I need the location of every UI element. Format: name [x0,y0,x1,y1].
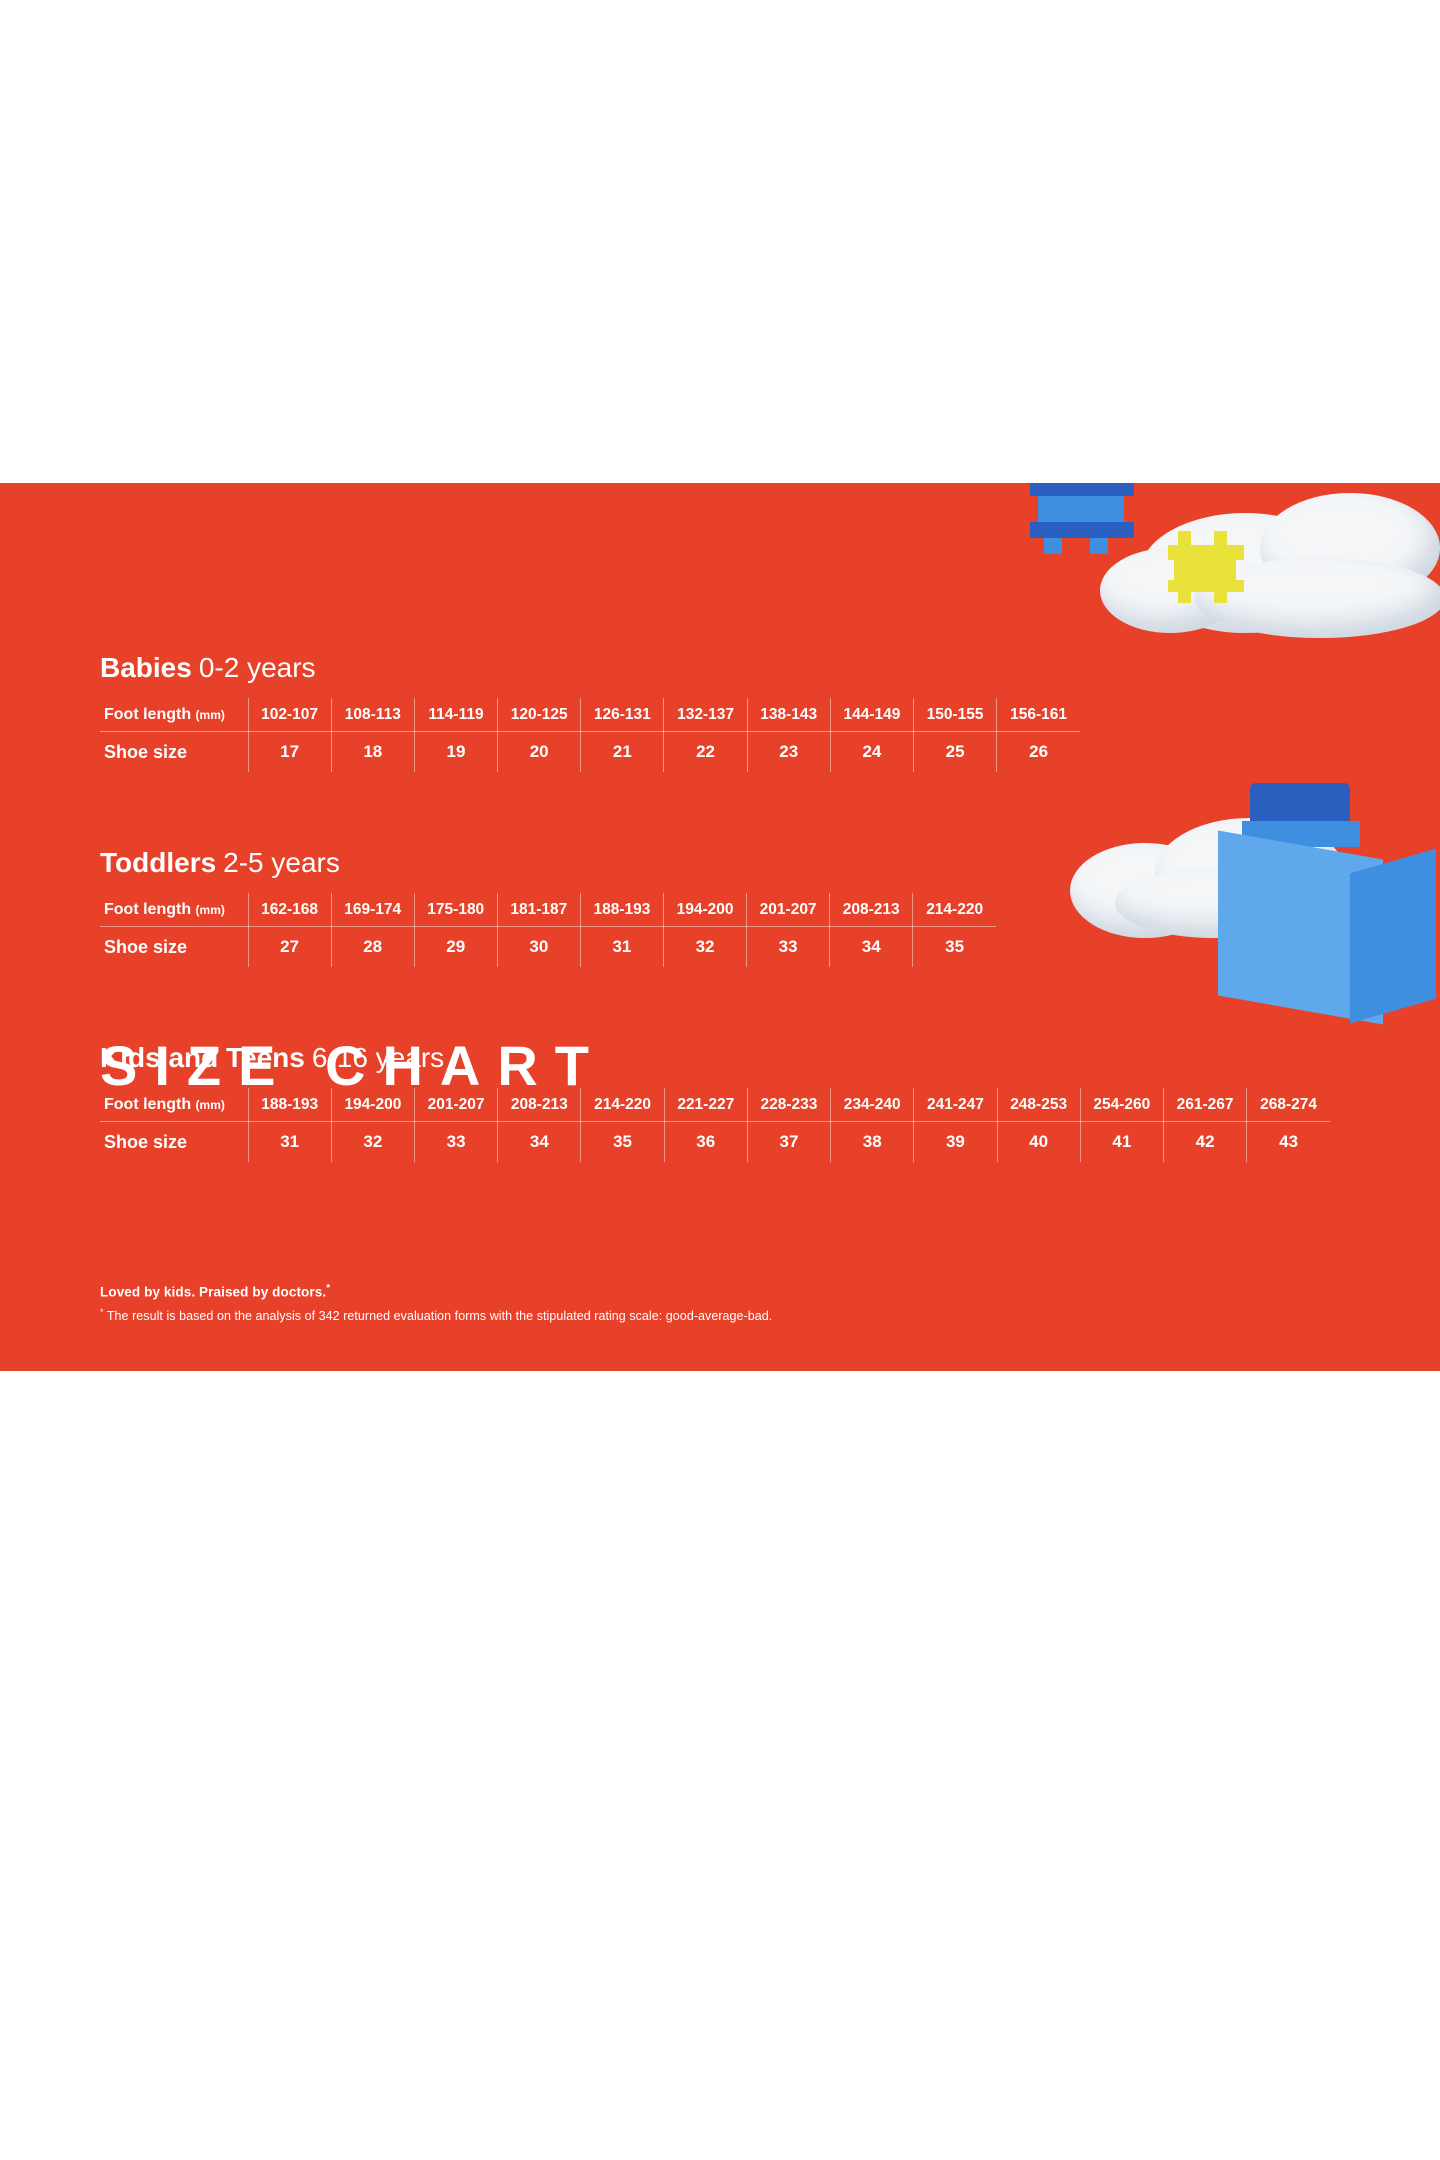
cell-shoe-size: 39 [914,1122,997,1162]
cell-foot-length: 188-193 [580,893,663,927]
size-table-toddlers: Foot length (mm) 162-168 169-174 175-180… [100,893,996,967]
cell-foot-length: 175-180 [414,893,497,927]
cell-foot-length: 221-227 [664,1088,747,1122]
section-age-label: 6-16 years [312,1042,444,1073]
footer-tagline-text: Loved by kids. Praised by doctors. [100,1285,326,1300]
foot-length-text: Foot length [104,901,191,918]
cell-shoe-size: 30 [497,927,580,967]
toy-block-yellow [1168,531,1250,603]
cell-shoe-size: 40 [997,1122,1080,1162]
cell-shoe-size: 35 [581,1122,664,1162]
cell-shoe-size: 33 [415,1122,498,1162]
cell-foot-length: 201-207 [415,1088,498,1122]
size-table-babies: Foot length (mm) 102-107 108-113 114-119… [100,698,1080,772]
cell-foot-length: 254-260 [1080,1088,1163,1122]
cell-shoe-size: 21 [581,732,664,772]
section-age-label: 0-2 years [199,652,316,683]
section-toddlers: Toddlers2-5 years Foot length (mm) 162-1… [100,848,996,967]
cloud-shape [1155,818,1345,928]
cell-foot-length: 208-213 [498,1088,581,1122]
cell-shoe-size: 25 [914,732,997,772]
cell-foot-length: 169-174 [331,893,414,927]
cell-shoe-size: 17 [248,732,331,772]
cell-shoe-size: 41 [1080,1122,1163,1162]
section-heading: Toddlers2-5 years [100,848,996,879]
cell-foot-length: 248-253 [997,1088,1080,1122]
cell-shoe-size: 32 [331,1122,414,1162]
section-heading: Babies0-2 years [100,653,1080,684]
cell-shoe-size: 38 [831,1122,914,1162]
red-panel: SIZE CHART Babies0-2 years Foot length (… [0,483,1440,1371]
cell-shoe-size: 28 [331,927,414,967]
cell-foot-length: 261-267 [1163,1088,1246,1122]
footer-note: * The result is based on the analysis of… [100,1307,772,1323]
cell-foot-length: 132-137 [664,698,747,732]
cell-shoe-size: 35 [913,927,996,967]
cell-foot-length: 120-125 [498,698,581,732]
section-kids-and-teens: Kids and Teens6-16 years Foot length (mm… [100,1043,1330,1162]
cell-foot-length: 162-168 [248,893,331,927]
footer-note-text: The result is based on the analysis of 3… [107,1309,772,1323]
cell-foot-length: 108-113 [331,698,414,732]
cell-shoe-size: 22 [664,732,747,772]
cloud-shape [1115,868,1315,938]
section-group-label: Babies [100,652,192,683]
cell-foot-length: 194-200 [663,893,746,927]
table-row-foot-length: Foot length (mm) 188-193 194-200 201-207… [100,1088,1330,1122]
row-label-shoe-size: Shoe size [100,732,248,772]
decoration-upper [1020,483,1440,683]
cell-shoe-size: 20 [498,732,581,772]
cell-foot-length: 208-213 [830,893,913,927]
toy-block-blue [1030,483,1140,548]
cell-foot-length: 114-119 [414,698,497,732]
cell-shoe-size: 43 [1247,1122,1330,1162]
section-babies: Babies0-2 years Foot length (mm) 102-107… [100,653,1080,772]
cell-foot-length: 194-200 [331,1088,414,1122]
footer: Loved by kids. Praised by doctors.* * Th… [100,1283,772,1323]
cell-shoe-size: 33 [747,927,830,967]
cell-foot-length: 138-143 [747,698,830,732]
row-label-foot-length: Foot length (mm) [100,1088,248,1122]
section-age-label: 2-5 years [223,847,340,878]
foot-length-unit: (mm) [196,708,225,722]
cell-foot-length: 150-155 [914,698,997,732]
cloud-shape [1140,513,1350,633]
cell-foot-length: 241-247 [914,1088,997,1122]
cell-foot-length: 214-220 [913,893,996,927]
size-table-kids-and-teens: Foot length (mm) 188-193 194-200 201-207… [100,1088,1330,1162]
cell-shoe-size: 34 [498,1122,581,1162]
foot-length-unit: (mm) [196,903,225,917]
cloud-shape [1100,548,1240,633]
size-chart-page: SIZE CHART Babies0-2 years Foot length (… [0,0,1440,2160]
cloud-shape [1195,558,1440,638]
table-row-shoe-size: Shoe size 27 28 29 30 31 32 33 34 35 [100,927,996,967]
cell-foot-length: 144-149 [830,698,913,732]
cell-foot-length: 234-240 [831,1088,914,1122]
row-label-shoe-size: Shoe size [100,1122,248,1162]
cell-shoe-size: 36 [664,1122,747,1162]
row-label-foot-length: Foot length (mm) [100,893,248,927]
foot-length-unit: (mm) [196,1098,225,1112]
cell-shoe-size: 27 [248,927,331,967]
table-row-shoe-size: Shoe size 31 32 33 34 35 36 37 38 39 40 … [100,1122,1330,1162]
row-label-shoe-size: Shoe size [100,927,248,967]
footer-note-marker: * [100,1307,104,1317]
row-label-foot-length: Foot length (mm) [100,698,248,732]
section-heading: Kids and Teens6-16 years [100,1043,1330,1074]
cell-shoe-size: 31 [248,1122,331,1162]
cloud-shape [1070,843,1220,938]
foot-length-text: Foot length [104,1096,191,1113]
cell-shoe-size: 29 [414,927,497,967]
section-group-label: Toddlers [100,847,216,878]
table-row-shoe-size: Shoe size 17 18 19 20 21 22 23 24 25 26 [100,732,1080,772]
cell-foot-length: 156-161 [997,698,1080,732]
cell-shoe-size: 23 [747,732,830,772]
cell-foot-length: 268-274 [1247,1088,1330,1122]
toy-block-large [1190,773,1440,1063]
footer-tagline: Loved by kids. Praised by doctors.* [100,1283,772,1300]
cell-shoe-size: 26 [997,732,1080,772]
cell-shoe-size: 32 [663,927,746,967]
section-group-label: Kids and Teens [100,1042,305,1073]
cell-shoe-size: 37 [747,1122,830,1162]
cell-shoe-size: 19 [414,732,497,772]
cloud-shape [1260,493,1440,603]
cell-foot-length: 201-207 [747,893,830,927]
cell-shoe-size: 18 [331,732,414,772]
cell-foot-length: 214-220 [581,1088,664,1122]
cell-foot-length: 102-107 [248,698,331,732]
cell-foot-length: 188-193 [248,1088,331,1122]
cell-foot-length: 228-233 [747,1088,830,1122]
cell-shoe-size: 34 [830,927,913,967]
cell-foot-length: 181-187 [497,893,580,927]
footer-tagline-marker: * [326,1283,330,1294]
table-row-foot-length: Foot length (mm) 102-107 108-113 114-119… [100,698,1080,732]
cell-shoe-size: 31 [580,927,663,967]
cell-foot-length: 126-131 [581,698,664,732]
cell-shoe-size: 42 [1163,1122,1246,1162]
cell-shoe-size: 24 [830,732,913,772]
foot-length-text: Foot length [104,706,191,723]
table-row-foot-length: Foot length (mm) 162-168 169-174 175-180… [100,893,996,927]
